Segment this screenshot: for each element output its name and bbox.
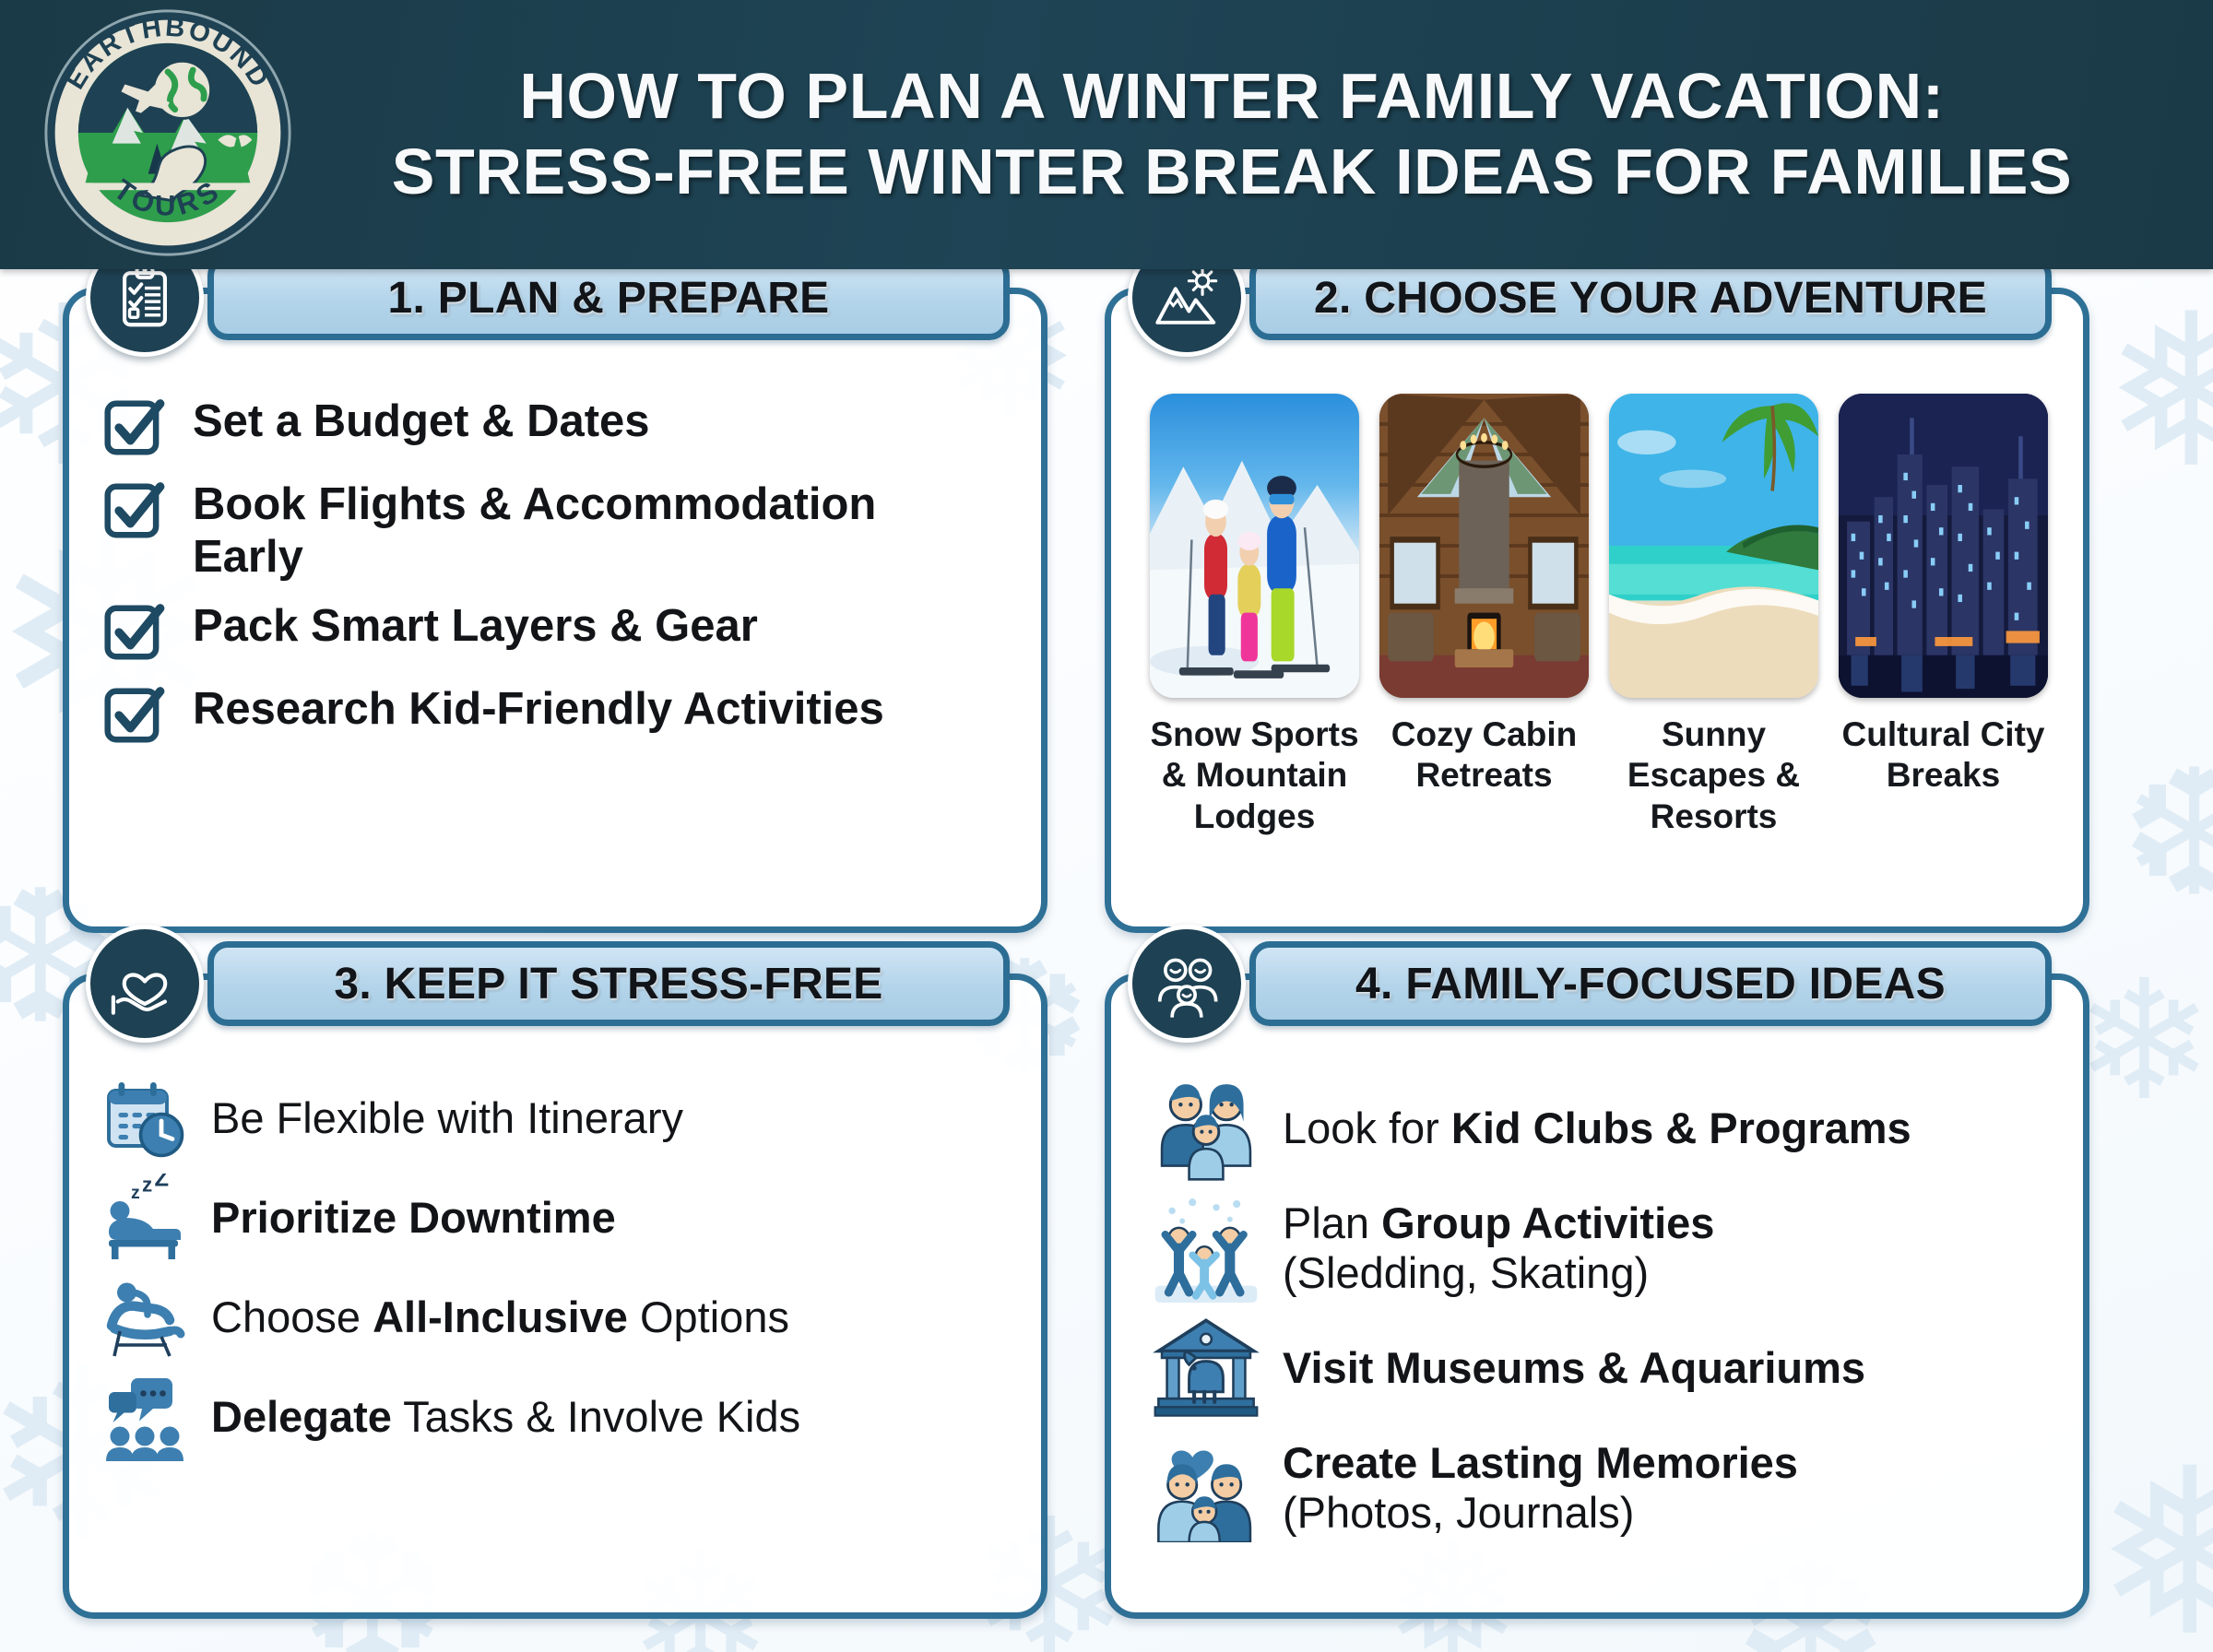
kids-playing-icon (1152, 1194, 1260, 1303)
list-item-bold: Kid Clubs & Programs (1451, 1103, 1911, 1152)
card-3-title: 3. KEEP IT STRESS-FREE (334, 959, 882, 1009)
list-item[interactable]: Research Kid-Friendly Activities (101, 679, 1013, 749)
stress-free-list: Be Flexible with Itinerary z z Z (101, 1065, 1013, 1461)
list-item[interactable]: Visit Museums & Aquariums (1152, 1314, 2055, 1422)
checkbox-checked-icon (101, 681, 169, 749)
card-1-body: Set a Budget & Dates Book Flights & Acco… (69, 294, 1041, 768)
adventure-option[interactable]: Sunny Escapes & Resorts (1609, 394, 1818, 837)
card-4-title: 4. FAMILY-FOCUSED IDEAS (1355, 959, 1946, 1009)
list-item[interactable]: Create Lasting Memories (Photos, Journal… (1152, 1434, 2055, 1542)
page-title: HOW TO PLAN A WINTER FAMILY VACATION: ST… (293, 59, 2171, 210)
list-item[interactable]: Look for Kid Clubs & Programs (1152, 1074, 2055, 1183)
tropical-beach-photo (1609, 394, 1818, 698)
list-item[interactable]: Pack Smart Layers & Gear (101, 596, 1013, 667)
list-item-plain: Look for (1283, 1103, 1451, 1152)
infographic-page: ❄ ❅ ❆ ❄ ❅ ❆ ❄ ❅ ❆ ❄ ❅ ❆ ❄ ❅ ❆ (0, 0, 2213, 1652)
card-4-header: 4. FAMILY-FOCUSED IDEAS (1249, 941, 2052, 1026)
list-item-tail: Tasks & Involve Kids (392, 1392, 800, 1441)
list-item-bold: Delegate (211, 1392, 392, 1441)
title-line-1: HOW TO PLAN A WINTER FAMILY VACATION: (321, 59, 2143, 135)
adventure-option[interactable]: Snow Sports & Mountain Lodges (1150, 394, 1359, 837)
photo-caption: Cultural City Breaks (1839, 714, 2048, 796)
checkbox-checked-icon (101, 477, 169, 545)
calendar-clock-icon (101, 1074, 189, 1162)
list-item-label: Pack Smart Layers & Gear (193, 596, 758, 653)
list-item-label: Choose All-Inclusive Options (211, 1292, 789, 1342)
svg-text:z: z (142, 1174, 152, 1197)
family-skiing-photo (1150, 394, 1359, 698)
family-group-icon (1128, 925, 1246, 1043)
title-line-2: STRESS-FREE WINTER BREAK IDEAS FOR FAMIL… (321, 135, 2143, 210)
list-item-label: Book Flights & Accommodation Early (193, 475, 930, 584)
lounge-chair-icon (101, 1273, 189, 1362)
card-keep-it-stress-free: 3. KEEP IT STRESS-FREE (63, 973, 1047, 1619)
svg-text:Z: Z (155, 1174, 170, 1192)
list-item-label: Delegate Tasks & Involve Kids (211, 1392, 800, 1442)
list-item-plain: Choose (211, 1292, 373, 1341)
photo-caption: Sunny Escapes & Resorts (1609, 714, 1818, 837)
card-3-body: Be Flexible with Itinerary z z Z (69, 980, 1041, 1480)
cards-grid: 1. PLAN & PREPARE Set a Budget & Dates (0, 269, 2213, 1619)
family-portrait-icon (1152, 1074, 1260, 1183)
checkbox-checked-icon (101, 394, 169, 462)
adventure-option[interactable]: Cozy Cabin Retreats (1379, 394, 1589, 837)
card-plan-and-prepare: 1. PLAN & PREPARE Set a Budget & Dates (63, 288, 1047, 933)
list-item-label: Create Lasting Memories (Photos, Journal… (1283, 1438, 1798, 1537)
list-item-tail: Options (628, 1292, 789, 1341)
card-4-body: Look for Kid Clubs & Programs (1111, 980, 2083, 1561)
svg-text:z: z (131, 1183, 140, 1203)
list-item-label: Research Kid-Friendly Activities (193, 679, 884, 736)
list-item-label: Look for Kid Clubs & Programs (1283, 1103, 1911, 1153)
person-sleeping-icon: z z Z (101, 1174, 189, 1262)
list-item[interactable]: z z Z Prioritize Downtime (101, 1174, 1013, 1262)
list-item-plain: Plan (1283, 1198, 1381, 1247)
adventure-option[interactable]: Cultural City Breaks (1839, 394, 2048, 837)
list-item-bold: All-Inclusive (373, 1292, 628, 1341)
museum-icon (1152, 1314, 1260, 1422)
city-skyline-night-photo (1839, 394, 2048, 698)
list-item-bold: Create Lasting Memories (1283, 1438, 1798, 1487)
card-2-title: 2. CHOOSE YOUR ADVENTURE (1314, 273, 1987, 324)
list-item-bold: Prioritize Downtime (211, 1193, 616, 1242)
card-family-focused-ideas: 4. FAMILY-FOCUSED IDEAS (1105, 973, 2089, 1619)
family-heart-icon (1152, 1434, 1260, 1542)
photo-caption: Cozy Cabin Retreats (1379, 714, 1589, 796)
list-item[interactable]: Set a Budget & Dates (101, 392, 1013, 462)
photo-caption: Snow Sports & Mountain Lodges (1150, 714, 1359, 837)
card-1-title: 1. PLAN & PREPARE (388, 273, 830, 324)
list-item-label: Set a Budget & Dates (193, 392, 650, 448)
card-2-body: Snow Sports & Mountain Lodges (1111, 294, 2083, 855)
list-item-label: Plan Group Activities (Sledding, Skating… (1283, 1198, 1714, 1297)
plan-checklist: Set a Budget & Dates Book Flights & Acco… (101, 379, 1013, 749)
list-item-bold: Visit Museums & Aquariums (1283, 1343, 1865, 1392)
list-item-label: Be Flexible with Itinerary (211, 1093, 683, 1143)
checkbox-checked-icon (101, 598, 169, 667)
list-item-sub: (Sledding, Skating) (1283, 1248, 1649, 1297)
page-header: EARTHBOUND TOURS HOW TO PLAN A WINTER FA… (0, 0, 2213, 269)
adventure-photo-strip: Snow Sports & Mountain Lodges (1142, 379, 2055, 837)
list-item[interactable]: Be Flexible with Itinerary (101, 1074, 1013, 1162)
list-item-sub: (Photos, Journals) (1283, 1488, 1634, 1537)
cabin-fireplace-photo (1379, 394, 1589, 698)
card-3-header: 3. KEEP IT STRESS-FREE (207, 941, 1010, 1026)
list-item-bold: Group Activities (1381, 1198, 1714, 1247)
heart-in-hand-icon (86, 925, 204, 1043)
list-item[interactable]: Book Flights & Accommodation Early (101, 475, 1013, 584)
list-item-label: Prioritize Downtime (211, 1193, 616, 1243)
list-item[interactable]: Plan Group Activities (Sledding, Skating… (1152, 1194, 2055, 1303)
list-item[interactable]: Delegate Tasks & Involve Kids (101, 1373, 1013, 1461)
card-choose-your-adventure: 2. CHOOSE YOUR ADVENTURE (1105, 288, 2089, 933)
team-chat-icon (101, 1373, 189, 1461)
family-ideas-list: Look for Kid Clubs & Programs (1152, 1065, 2055, 1542)
list-item[interactable]: Choose All-Inclusive Options (101, 1273, 1013, 1362)
list-item-label: Visit Museums & Aquariums (1283, 1343, 1865, 1393)
brand-logo: EARTHBOUND TOURS (42, 7, 293, 258)
